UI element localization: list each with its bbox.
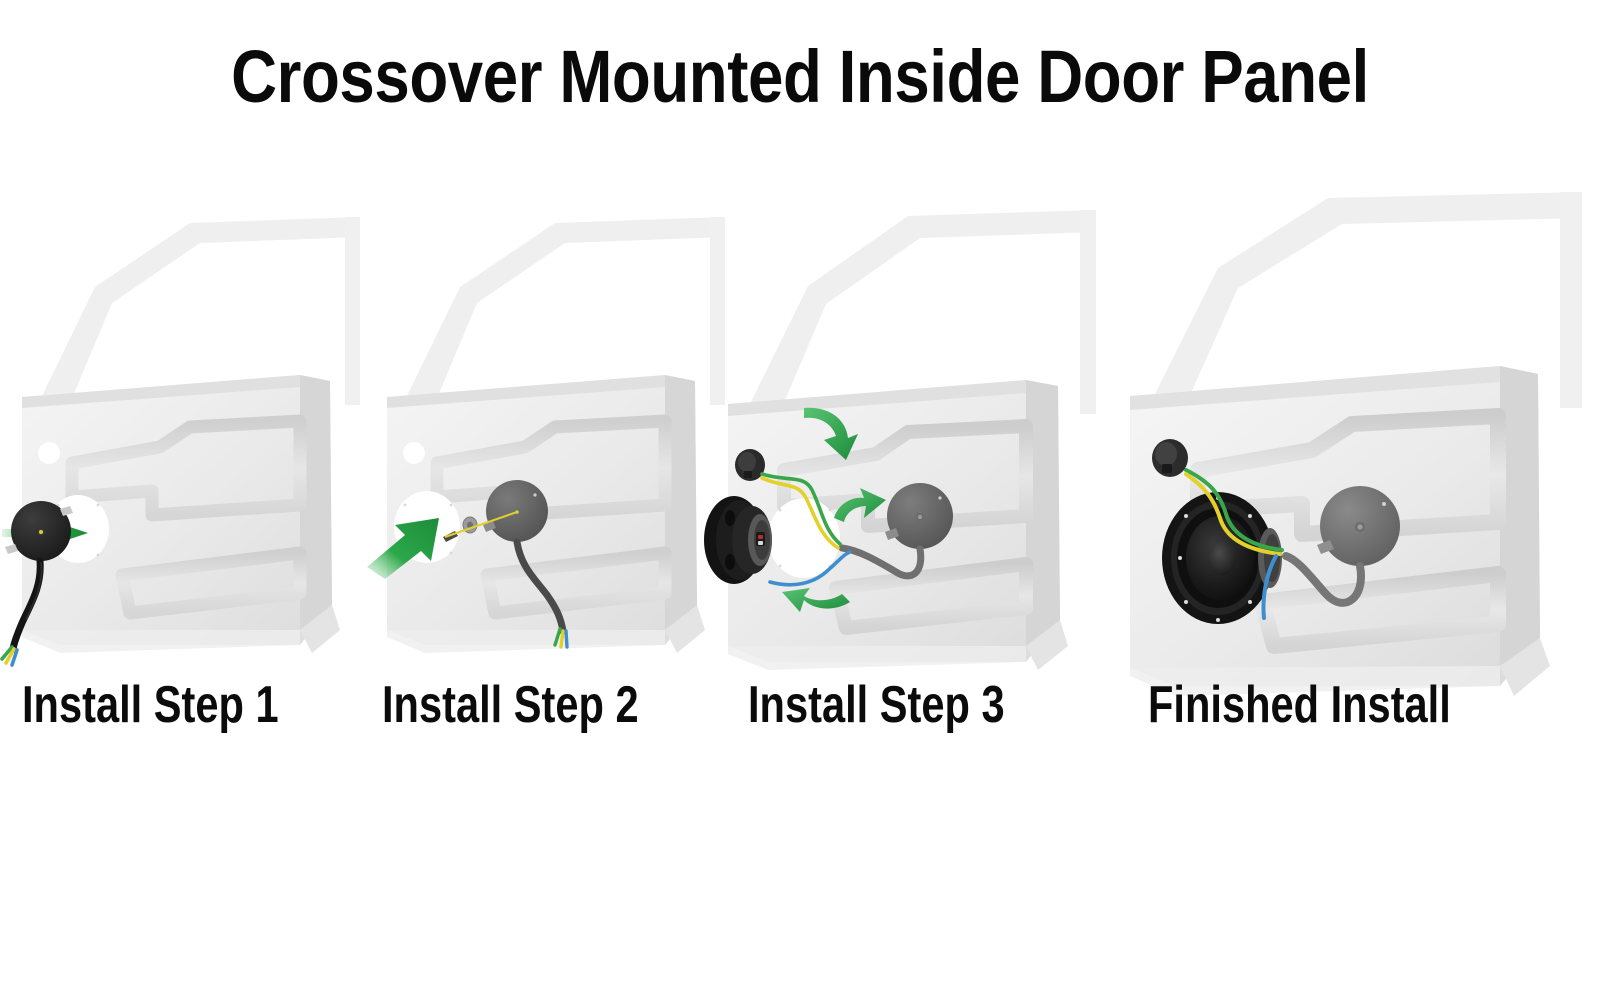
tweeter-speaker [1152, 439, 1188, 477]
step-label-1: Install Step 1 [22, 678, 279, 732]
wire-leads [2, 647, 17, 665]
door-small-hole [38, 442, 60, 464]
step-label-4: Finished Install [1148, 678, 1451, 732]
diagram-step-1 [0, 175, 380, 665]
step-label-3: Install Step 3 [748, 678, 1005, 732]
diagram-step-2 [365, 175, 745, 665]
diagram-step-3 [700, 168, 1120, 678]
diagram-step-4-finished [1090, 158, 1600, 703]
step-label-2: Install Step 2 [382, 678, 639, 732]
door-window-frame [40, 217, 360, 405]
page-title: Crossover Mounted Inside Door Panel [112, 38, 1488, 116]
door-window-frame [405, 217, 725, 405]
tweeter-speaker [735, 449, 765, 481]
door-small-hole [403, 442, 425, 464]
